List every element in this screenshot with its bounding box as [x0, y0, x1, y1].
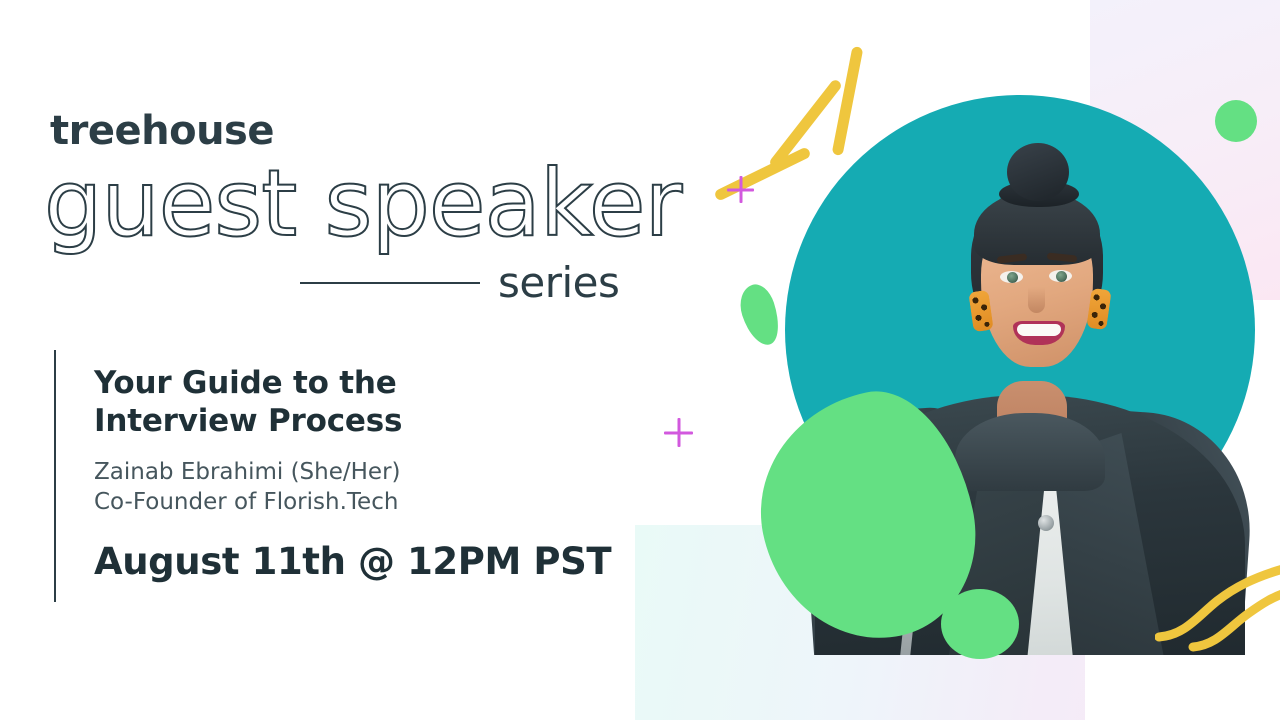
brand-wordmark: treehouse	[50, 108, 274, 154]
promo-graphic: treehouse guest speaker series Your Guid…	[0, 0, 1280, 720]
hair-bun	[1007, 143, 1069, 201]
event-datetime: August 11th @ 12PM PST	[94, 540, 611, 583]
series-divider-rule	[300, 282, 480, 284]
earring-right	[1086, 288, 1111, 330]
talk-title: Your Guide to the Interview Process	[94, 364, 611, 441]
plus-icon	[727, 176, 754, 203]
speaker-role: Co-Founder of Florish.Tech	[94, 488, 611, 518]
green-circle-bottom	[941, 589, 1019, 659]
speaker-name: Zainab Ebrahimi (She/Her)	[94, 458, 611, 488]
yellow-wavy-lines-icon	[1155, 565, 1280, 690]
iris-right	[1056, 271, 1067, 282]
plus-icon	[664, 418, 693, 447]
eye-left	[1000, 271, 1023, 283]
jacket-collar	[955, 413, 1105, 491]
green-blob-small	[734, 280, 785, 349]
eye-right	[1049, 270, 1072, 282]
teeth	[1017, 324, 1061, 336]
green-circle-top-right	[1215, 100, 1257, 142]
event-info-block: Your Guide to the Interview Process Zain…	[54, 350, 611, 602]
jacket-snap-button	[1038, 515, 1054, 531]
headline-outline-text: guest speaker	[44, 158, 681, 250]
series-label: series	[498, 258, 619, 307]
nose	[1028, 287, 1045, 313]
iris-left	[1007, 272, 1018, 283]
series-row: series	[300, 258, 619, 307]
